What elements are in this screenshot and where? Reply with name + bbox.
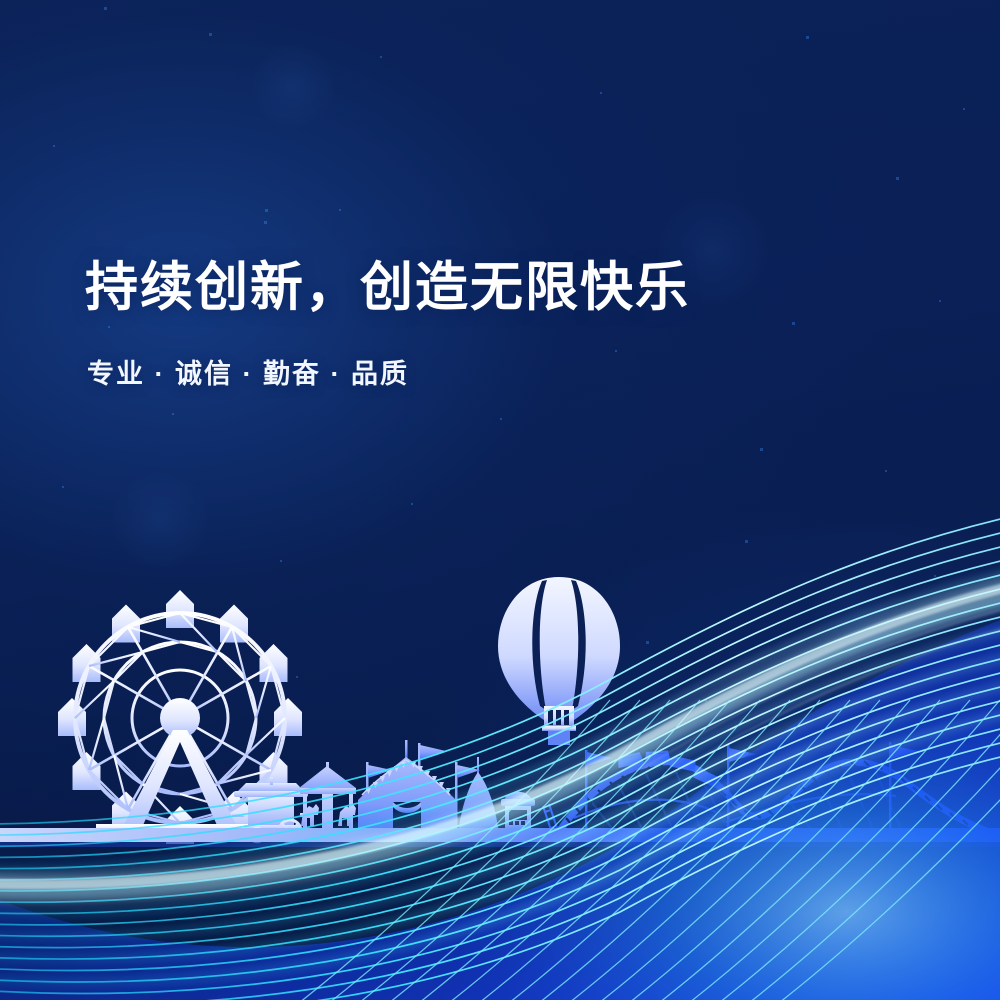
tagline: 专业 · 诚信 · 勤奋 · 品质	[87, 352, 905, 391]
page-title: 持续创新，创造无限快乐	[85, 258, 905, 317]
promo-banner: 持续创新，创造无限快乐 专业 · 诚信 · 勤奋 · 品质	[0, 0, 1000, 1000]
star-field	[0, 0, 1000, 1000]
text-block: 持续创新，创造无限快乐 专业 · 诚信 · 勤奋 · 品质	[85, 258, 905, 391]
